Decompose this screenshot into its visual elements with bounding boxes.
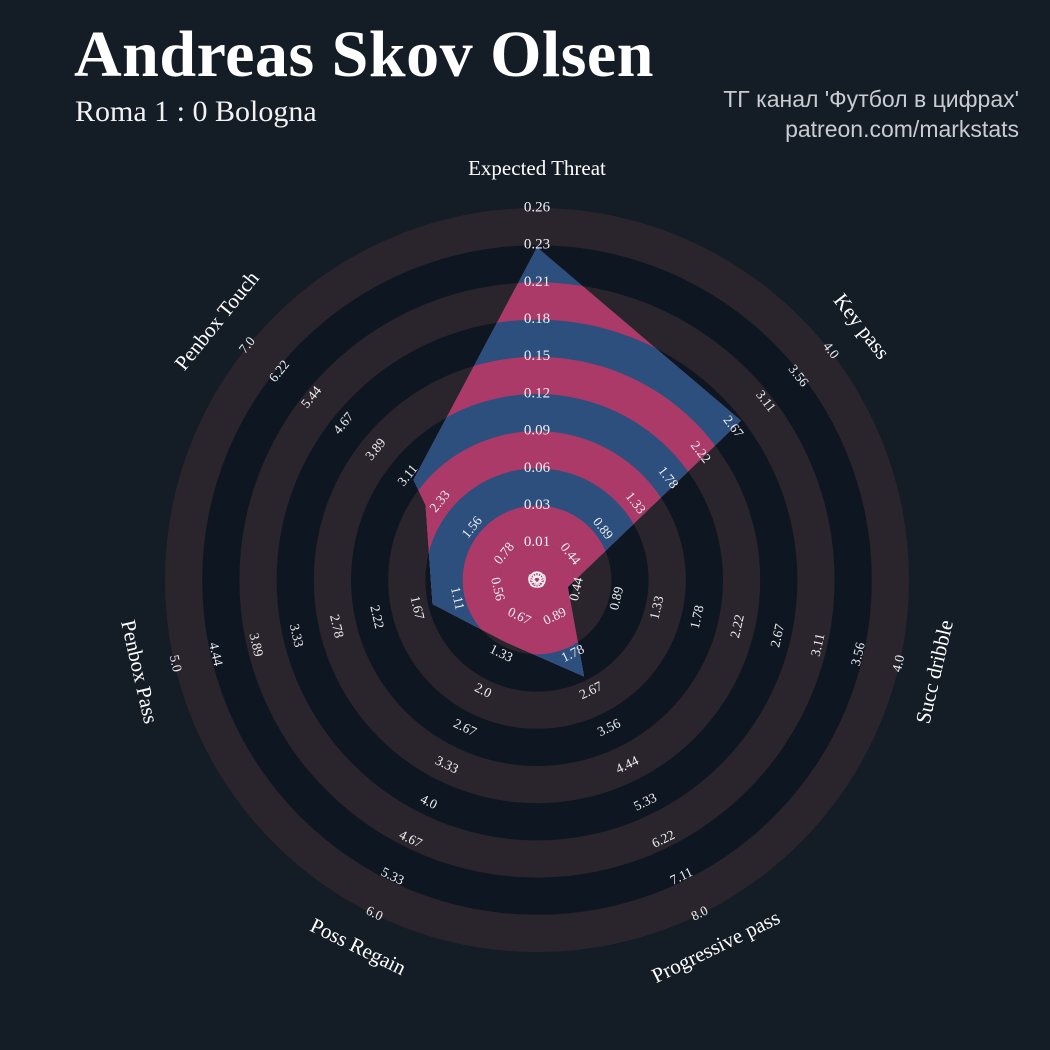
axis-tick-label: 0.21: [524, 274, 550, 290]
axis-tick-label: 0.12: [524, 385, 550, 401]
axis-title-succ-dribble: Succ dribble: [911, 618, 958, 726]
axis-tick-label: 0.26: [524, 199, 551, 215]
axis-title-penbox-pass: Penbox Pass: [116, 618, 163, 726]
radar-chart-svg: 0.00.010.030.060.090.120.150.180.210.230…: [0, 0, 1050, 1050]
axis-tick-label: 0.09: [524, 423, 550, 439]
axis-tick-label: 4.0: [889, 653, 907, 673]
axis-tick-label: 0.18: [524, 311, 550, 327]
axis-tick-label: 0.06: [524, 460, 551, 476]
axis-tick-label: 0.03: [524, 497, 550, 513]
axis-tick-label: 0.15: [524, 348, 550, 364]
axis-tick-label: 0.01: [524, 534, 550, 550]
axis-tick-label: 0.23: [524, 237, 550, 253]
radar-chart-page: Andreas Skov Olsen Roma 1 : 0 Bologna ТГ…: [0, 0, 1050, 1050]
axis-tick-label: 5.0: [167, 653, 185, 673]
axis-title-expected-threat: Expected Threat: [468, 156, 606, 180]
